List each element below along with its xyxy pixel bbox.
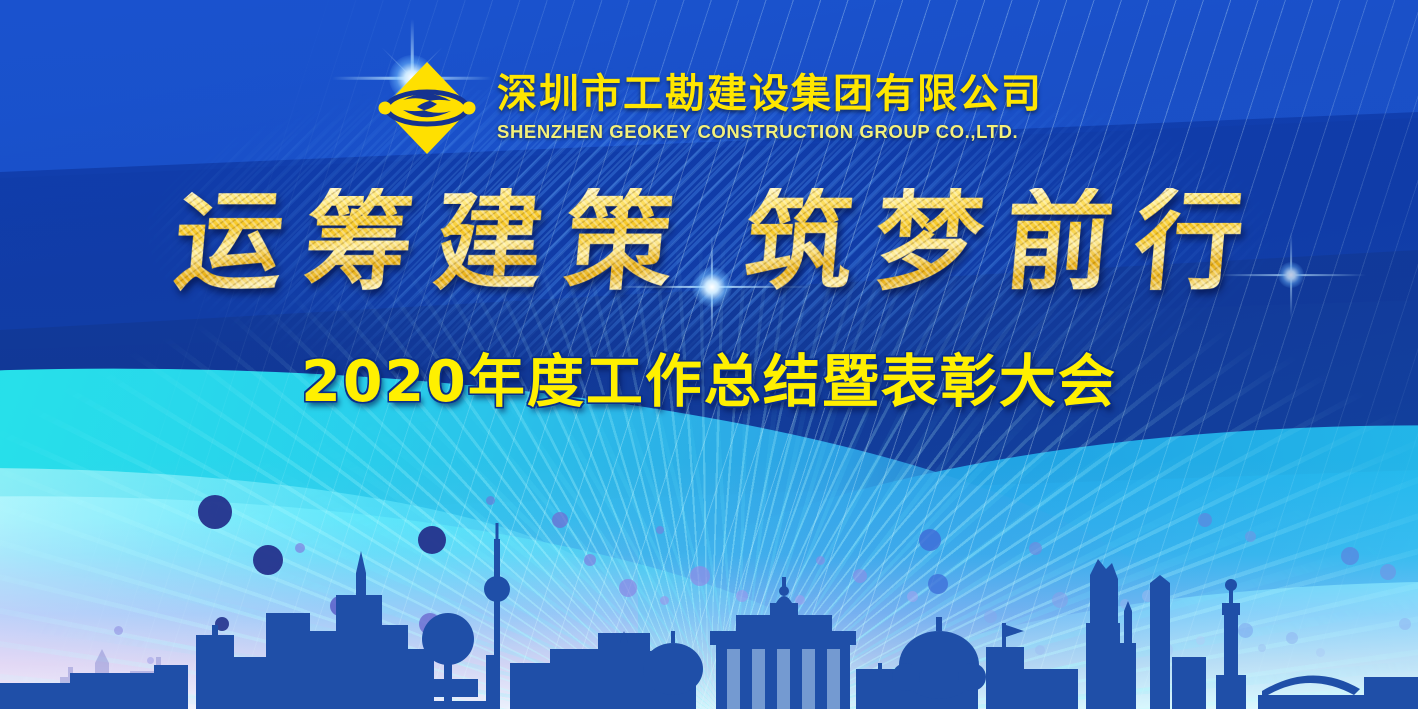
main-title: 运筹建策 筑梦前行 [0, 172, 1418, 312]
title-character: 行 [1130, 188, 1247, 296]
company-name-cn: 深圳市工勘建设集团有限公司 [497, 74, 1043, 114]
title-character: 前 [1000, 188, 1117, 296]
decorative-bubble [486, 496, 495, 505]
gate-column-gaps [0, 519, 1418, 709]
main-title-phrase-one: 运筹建策 [175, 188, 673, 296]
conference-banner: 深圳市工勘建设集团有限公司 SHENZHEN GEOKEY CONSTRUCTI… [0, 0, 1418, 709]
title-character: 筑 [740, 188, 857, 296]
main-title-phrase-two: 筑梦前行 [745, 188, 1243, 296]
subtitle: 2020年度工作总结暨表彰大会 [0, 336, 1418, 418]
company-name-en: SHENZHEN GEOKEY CONSTRUCTION GROUP CO.,L… [497, 123, 1043, 142]
geokey-diamond-logo-icon [375, 56, 479, 160]
brand-header: 深圳市工勘建设集团有限公司 SHENZHEN GEOKEY CONSTRUCTI… [0, 56, 1418, 160]
company-name-block: 深圳市工勘建设集团有限公司 SHENZHEN GEOKEY CONSTRUCTI… [497, 74, 1043, 142]
title-character: 建 [430, 188, 547, 296]
title-character: 运 [170, 188, 287, 296]
subtitle-text: 2020年度工作总结暨表彰大会 [301, 349, 1117, 415]
title-character: 梦 [870, 188, 987, 296]
title-character: 策 [560, 188, 677, 296]
title-character: 筹 [300, 188, 417, 296]
